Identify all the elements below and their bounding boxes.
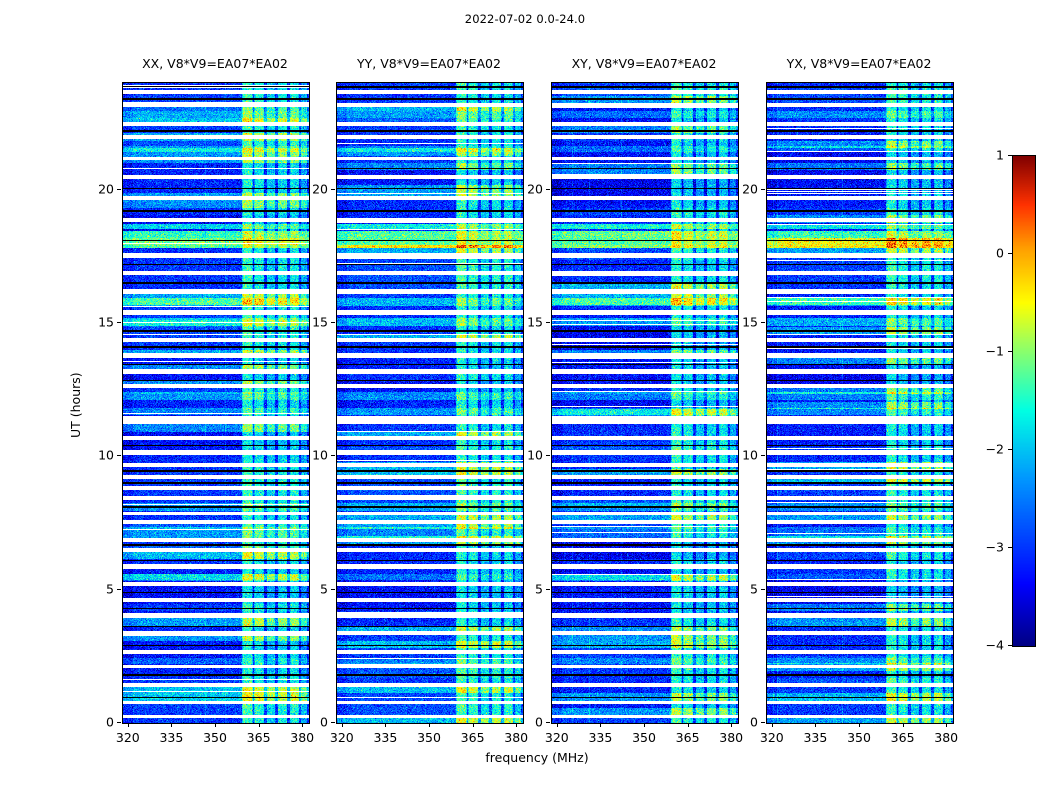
y-tick-label: 0 [732,715,758,730]
waterfall-panel-yx[interactable] [766,82,954,724]
y-tick-mark [546,189,550,190]
y-tick-mark [117,589,121,590]
y-tick-label: 0 [88,715,114,730]
y-tick-mark [546,455,550,456]
y-tick-label: 20 [517,181,543,196]
panel-title-xy: XY, V8*V9=EA07*EA02 [551,56,737,71]
x-tick-label: 320 [116,730,140,745]
y-tick-label: 15 [517,315,543,330]
colorbar-tick-mark [1008,645,1012,646]
colorbar-tick-label: 0 [972,246,1004,261]
x-tick-label: 365 [461,730,485,745]
y-tick-label: 15 [88,315,114,330]
x-tick-mark [815,723,816,727]
y-tick-label: 15 [732,315,758,330]
y-tick-mark [331,589,335,590]
x-tick-label: 365 [247,730,271,745]
y-tick-mark [331,189,335,190]
waterfall-panel-yy[interactable] [336,82,524,724]
x-tick-label: 380 [719,730,743,745]
x-tick-mark [128,723,129,727]
y-tick-label: 5 [517,581,543,596]
waterfall-image-xy [552,83,738,723]
colorbar[interactable] [1012,155,1036,647]
colorbar-tick-mark [1008,547,1012,548]
waterfall-panel-xy[interactable] [551,82,739,724]
x-tick-mark [946,723,947,727]
y-tick-mark [546,589,550,590]
y-tick-mark [331,322,335,323]
x-tick-label: 350 [847,730,871,745]
x-tick-mark [342,723,343,727]
x-tick-mark [557,723,558,727]
y-tick-label: 10 [732,448,758,463]
colorbar-tick-mark [1008,155,1012,156]
x-tick-label: 320 [760,730,784,745]
y-tick-label: 0 [302,715,328,730]
colorbar-tick-label: −1 [972,344,1004,359]
y-tick-mark [546,322,550,323]
x-tick-label: 380 [504,730,528,745]
waterfall-image-xx [123,83,309,723]
y-tick-label: 5 [732,581,758,596]
y-tick-mark [546,722,550,723]
y-tick-mark [761,322,765,323]
y-tick-mark [117,455,121,456]
y-tick-mark [117,322,121,323]
waterfall-image-yx [767,83,953,723]
colorbar-tick-mark [1008,351,1012,352]
colorbar-tick-label: 1 [972,148,1004,163]
y-tick-label: 20 [732,181,758,196]
y-tick-label: 20 [88,181,114,196]
y-tick-mark [761,189,765,190]
x-tick-label: 335 [159,730,183,745]
y-tick-mark [117,189,121,190]
colorbar-tick-label: −4 [972,638,1004,653]
y-tick-label: 0 [517,715,543,730]
colorbar-tick-label: −3 [972,540,1004,555]
x-tick-label: 335 [373,730,397,745]
figure-suptitle: 2022-07-02 0.0-24.0 [0,12,1050,26]
x-tick-mark [259,723,260,727]
x-tick-mark [859,723,860,727]
y-tick-label: 5 [88,581,114,596]
y-tick-label: 10 [302,448,328,463]
x-tick-label: 320 [545,730,569,745]
y-tick-mark [761,589,765,590]
y-tick-mark [331,455,335,456]
x-tick-label: 350 [203,730,227,745]
colorbar-gradient [1013,156,1035,646]
y-tick-label: 10 [88,448,114,463]
panel-title-yy: YY, V8*V9=EA07*EA02 [336,56,522,71]
x-tick-label: 365 [891,730,915,745]
x-tick-mark [215,723,216,727]
panel-title-xx: XX, V8*V9=EA07*EA02 [122,56,308,71]
x-tick-label: 380 [290,730,314,745]
x-tick-mark [385,723,386,727]
x-tick-mark [772,723,773,727]
x-tick-label: 335 [588,730,612,745]
waterfall-panel-xx[interactable] [122,82,310,724]
x-tick-mark [688,723,689,727]
x-tick-label: 320 [330,730,354,745]
x-tick-mark [171,723,172,727]
x-tick-label: 350 [417,730,441,745]
y-tick-label: 20 [302,181,328,196]
x-tick-label: 380 [934,730,958,745]
x-axis-label: frequency (MHz) [122,750,952,765]
x-tick-mark [600,723,601,727]
y-tick-mark [761,455,765,456]
colorbar-tick-mark [1008,253,1012,254]
x-tick-mark [903,723,904,727]
y-tick-mark [761,722,765,723]
panel-title-yx: YX, V8*V9=EA07*EA02 [766,56,952,71]
y-tick-mark [117,722,121,723]
x-tick-label: 365 [676,730,700,745]
y-tick-label: 10 [517,448,543,463]
y-tick-mark [331,722,335,723]
x-tick-mark [644,723,645,727]
x-tick-label: 335 [803,730,827,745]
y-tick-label: 5 [302,581,328,596]
x-tick-label: 350 [632,730,656,745]
y-tick-label: 15 [302,315,328,330]
colorbar-tick-label: −2 [972,442,1004,457]
figure-canvas: 2022-07-02 0.0-24.0 XX, V8*V9=EA07*EA023… [0,0,1050,800]
y-axis-label: UT (hours) [68,372,83,438]
x-tick-mark [429,723,430,727]
waterfall-image-yy [337,83,523,723]
colorbar-tick-mark [1008,449,1012,450]
x-tick-mark [473,723,474,727]
